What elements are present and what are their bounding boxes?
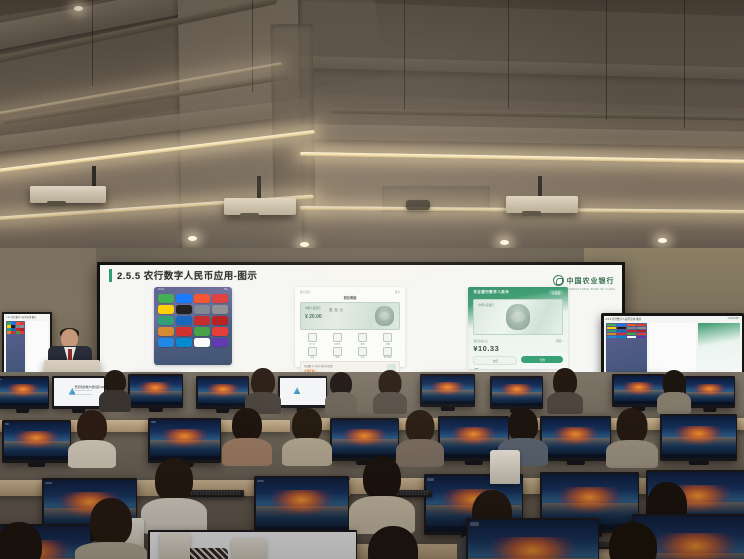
wallet-function[interactable]: 更多服务: [376, 347, 400, 360]
function-icon: [358, 333, 367, 342]
monitor-wallpaper: [130, 376, 182, 405]
student: [374, 370, 406, 410]
tv-phone-panel: [606, 323, 648, 376]
function-label: 付款码: [325, 343, 349, 346]
abc-balance-label-row: 钱包余额(元) 明细 >: [473, 339, 563, 343]
ceiling-duct: [270, 24, 315, 207]
monitor-wallpaper: [662, 416, 736, 458]
wallet-function[interactable]: 付款码: [325, 333, 349, 346]
tv-wallet-panel: [649, 323, 695, 376]
function-label: 充值: [300, 356, 324, 359]
app-icon[interactable]: [176, 316, 192, 325]
app-icon[interactable]: [194, 338, 210, 347]
monitor-stand: [703, 408, 716, 412]
desktop-icon: [151, 421, 156, 423]
projector-mount: [538, 176, 542, 198]
student: [70, 410, 114, 464]
abc-logo-icon: [473, 368, 480, 369]
app-icon[interactable]: [212, 294, 228, 303]
abc-wallet-actions: 充值付款: [473, 356, 563, 365]
abc-wallet-button[interactable]: 充值: [473, 356, 517, 365]
note-denomination: 壹拾元: [329, 307, 345, 312]
monitor-screen: 登录您的账户或创建 Microsoft 账户: [54, 378, 104, 406]
slide-panel-abc-wallet: 农业银行数字人民币 子钱包 中国人民银行 钱包余额(元) 明细 > ¥10.33…: [468, 287, 568, 369]
student-monitor[interactable]: [490, 376, 543, 409]
monitor-wallpaper: [0, 378, 48, 406]
app-icon[interactable]: [212, 327, 228, 336]
portrait-icon: [506, 304, 530, 330]
taskbar: [198, 403, 248, 406]
student-monitor[interactable]: [278, 376, 327, 408]
app-icon[interactable]: [212, 338, 228, 347]
function-label: 更多服务: [376, 356, 400, 359]
rmb-banknote-card: 中国人民银行 壹拾元 ¥ 20.00: [300, 302, 400, 330]
slide-title: 2.5.5 农行数字人民币应用-图示: [117, 268, 257, 282]
app-icon[interactable]: [158, 305, 174, 314]
hanger-wire: [252, 0, 253, 92]
function-icon: [308, 333, 317, 342]
monitor-wallpaper: [492, 378, 542, 406]
monitor-stand: [148, 408, 162, 412]
monitor-wallpaper: [198, 378, 248, 406]
tv-app-grid: [606, 323, 648, 340]
function-icon: [358, 347, 367, 356]
projector-mount: [92, 166, 96, 188]
side-display-title: 2.5.5 农行数字人民币应用-图示: [6, 315, 36, 319]
student: [608, 408, 656, 466]
wallet-function-grid: 扫一扫付款码收款转账充值提现兑出更多服务: [300, 333, 400, 359]
note-bank-name: 中国人民银行: [305, 306, 321, 310]
classroom-seating: 登录您的账户或创建 Microsoft 账户: [0, 372, 744, 559]
desktop-icon: [5, 423, 10, 425]
student-monitor[interactable]: 登录您的账户或创建 Microsoft 账户: [52, 376, 105, 409]
side-display-content: [6, 321, 48, 374]
phone-clock: 10:24: [158, 288, 165, 291]
abc-logo-icon: [553, 275, 564, 286]
side-app-grid: [6, 321, 25, 335]
student: [352, 456, 412, 530]
student: [144, 458, 204, 530]
monitor-wallpaper: [468, 520, 598, 559]
monitor-wallpaper: [150, 420, 220, 460]
phone-app-grid: [154, 292, 232, 349]
tv-abc-panel: [698, 323, 740, 376]
student-monitor[interactable]: [684, 376, 735, 408]
app-icon[interactable]: [194, 316, 210, 325]
app-icon[interactable]: [194, 327, 210, 336]
ceiling: [0, 0, 744, 262]
taskbar: [662, 454, 736, 458]
app-icon[interactable]: [158, 327, 174, 336]
wall-tv-screen: 2.5.5 农行数字人民币应用-图示 中国农业银行: [604, 316, 742, 378]
wall-tv-content: [606, 323, 740, 376]
note-amount: ¥ 20.00: [305, 314, 322, 320]
student: [658, 370, 690, 410]
taskbar: [422, 401, 474, 404]
app-icon[interactable]: [176, 327, 192, 336]
balance-detail-link: 明细 >: [556, 339, 563, 343]
student-monitor[interactable]: [196, 376, 249, 409]
ceiling-pipe: [330, 108, 744, 120]
wallet-function[interactable]: 提现: [325, 347, 349, 360]
function-label: 转账: [376, 343, 400, 346]
student-monitor[interactable]: [128, 374, 183, 408]
function-icon: [383, 333, 392, 342]
wallet-top-bar: 数字钱包 更多: [300, 290, 400, 294]
student: [284, 408, 330, 464]
monitor-wallpaper: [542, 418, 610, 458]
monitor-wallpaper: [332, 420, 398, 458]
hanger-wire: [508, 0, 509, 108]
projector-lens: [522, 211, 541, 216]
projector-lens: [240, 213, 259, 218]
slide-accent-bar: [109, 269, 112, 282]
taskbar: [4, 456, 70, 459]
function-icon: [333, 347, 342, 356]
slide-header: 2.5.5 农行数字人民币应用-图示 中国农业银行 AGRICULTURAL B…: [100, 265, 622, 287]
hanger-wire: [404, 0, 405, 110]
monitor-stand: [566, 461, 584, 465]
function-label: 收款: [350, 343, 374, 346]
function-label: 扫一扫: [300, 343, 324, 346]
app-icon[interactable]: [194, 294, 210, 303]
wall-tv-title: 2.5.5 农行数字人民币应用-图示: [606, 317, 642, 321]
ceiling-beam: [300, 124, 744, 147]
hanger-wire: [606, 0, 607, 120]
taskbar: [130, 402, 182, 405]
app-icon[interactable]: [176, 338, 192, 347]
promo-line1: 开通数字人民币钱包享优惠: [304, 364, 396, 368]
taskbar: [0, 403, 48, 406]
slide: 2.5.5 农行数字人民币应用-图示 中国农业银行 AGRICULTURAL B…: [100, 265, 622, 373]
student-monitor[interactable]: [330, 418, 399, 461]
monitor-stand: [464, 461, 482, 465]
taskbar: [614, 401, 664, 404]
student: [0, 522, 56, 559]
portrait-icon: [375, 306, 394, 326]
side-phone-panel: [6, 321, 25, 374]
app-icon[interactable]: [158, 294, 174, 303]
classroom-photo-scene: 2.5.5 农行数字人民币应用-图示 中国农业银行 AGRICULTURAL B…: [0, 0, 744, 559]
projector: [30, 186, 106, 203]
monitor-stand: [28, 463, 46, 467]
projector: [506, 196, 578, 213]
ceiling-downlight: [500, 240, 509, 245]
slide-panel-digital-rmb-wallet: 数字钱包 更多 钱包明细 中国人民银行 壹拾元 ¥ 20.00 扫一扫付款码收款…: [295, 287, 405, 367]
wallet-title: 钱包明细: [300, 295, 400, 300]
monitor-wallpaper: [422, 376, 474, 404]
led-light-strip: [300, 152, 744, 164]
windows-logo-icon: [293, 387, 300, 394]
app-icon[interactable]: [212, 316, 228, 325]
chair: [232, 538, 266, 559]
chair: [160, 532, 190, 559]
projection-screen: 2.5.5 农行数字人民币应用-图示 中国农业银行 AGRICULTURAL B…: [97, 262, 625, 376]
student-monitor[interactable]: [148, 418, 221, 463]
monitor-stand: [688, 461, 708, 465]
monitor-wallpaper: [256, 478, 348, 532]
student: [100, 370, 130, 410]
app-icon[interactable]: [176, 305, 192, 314]
taskbar: [492, 403, 542, 406]
student: [78, 498, 144, 559]
monitor-stand: [440, 407, 454, 411]
desktop-icon: [470, 522, 479, 526]
monitor-wallpaper: [4, 422, 70, 460]
student-monitor[interactable]: [420, 374, 475, 407]
wallet-function[interactable]: 收款: [350, 333, 374, 346]
app-icon[interactable]: [158, 338, 174, 347]
abc-wallet-card: 中国人民银行: [473, 299, 563, 335]
monitor-wallpaper: [614, 376, 664, 404]
student: [596, 522, 670, 559]
monitor-screen: [280, 378, 326, 405]
monitor-stand: [16, 409, 30, 413]
app-icon[interactable]: [176, 294, 192, 303]
function-icon: [308, 347, 317, 356]
student: [354, 526, 432, 559]
student-monitor[interactable]: [2, 420, 71, 463]
card-bank-name: 中国人民银行: [478, 303, 494, 307]
wallet-function[interactable]: 扫一扫: [300, 333, 324, 346]
student: [246, 368, 280, 410]
desktop-icon: [0, 379, 2, 380]
abc-wallet-button[interactable]: 付款: [521, 356, 563, 363]
app-icon[interactable]: [194, 305, 210, 314]
wallet-function[interactable]: 兑出: [350, 347, 374, 360]
student-monitor[interactable]: [660, 414, 737, 461]
wallet-function[interactable]: 转账: [376, 333, 400, 346]
projector: [224, 198, 296, 215]
ceiling-downlight: [74, 6, 83, 11]
hanger-wire: [684, 0, 685, 128]
slide-body: 10:24 5G 数字钱包 更多 钱包明细 中国人民银行 壹拾元 ¥: [100, 287, 622, 373]
projector-mount: [257, 176, 261, 200]
ceiling-downlight: [188, 236, 197, 241]
ceiling-downlight: [658, 238, 667, 243]
desktop-icon: [45, 482, 51, 485]
slide-panel-phone-home: 10:24 5G: [154, 287, 232, 365]
student: [326, 372, 356, 410]
student: [548, 368, 582, 410]
balance-label: 钱包余额(元): [473, 339, 488, 343]
phone-signal: 5G: [224, 288, 227, 291]
function-label: 兑出: [350, 356, 374, 359]
hanger-wire: [92, 0, 93, 86]
projector-lens: [47, 201, 67, 206]
chair: [490, 450, 520, 484]
taskbar: [686, 402, 734, 404]
wallet-header-left: 数字钱包: [300, 290, 310, 294]
desktop-icon: [257, 480, 263, 483]
student-monitor[interactable]: [0, 376, 49, 409]
student: [224, 408, 270, 464]
function-icon: [333, 333, 342, 342]
ceiling-slab: [299, 1, 744, 111]
brand-name-cn: 中国农业银行: [567, 278, 615, 285]
desktop-icon: [427, 478, 434, 481]
app-icon[interactable]: [212, 305, 228, 314]
wallet-header-right: 更多: [395, 290, 400, 294]
abc-wallet-badge: 子钱包: [549, 290, 563, 295]
function-icon: [383, 347, 392, 356]
ceiling-speaker: [406, 200, 430, 210]
monitor-wallpaper: [686, 378, 734, 405]
ceiling-downlight: [300, 242, 309, 247]
abc-balance-amount: ¥10.33: [473, 344, 563, 353]
function-label: 提现: [325, 356, 349, 359]
wallet-function[interactable]: 充值: [300, 347, 324, 360]
student-monitor[interactable]: [466, 518, 599, 559]
app-icon[interactable]: [158, 316, 174, 325]
wall-tv-brand: 中国农业银行: [727, 317, 739, 320]
student-monitor[interactable]: [254, 476, 349, 535]
taskbar: [542, 454, 610, 458]
student-monitor[interactable]: [540, 416, 611, 461]
